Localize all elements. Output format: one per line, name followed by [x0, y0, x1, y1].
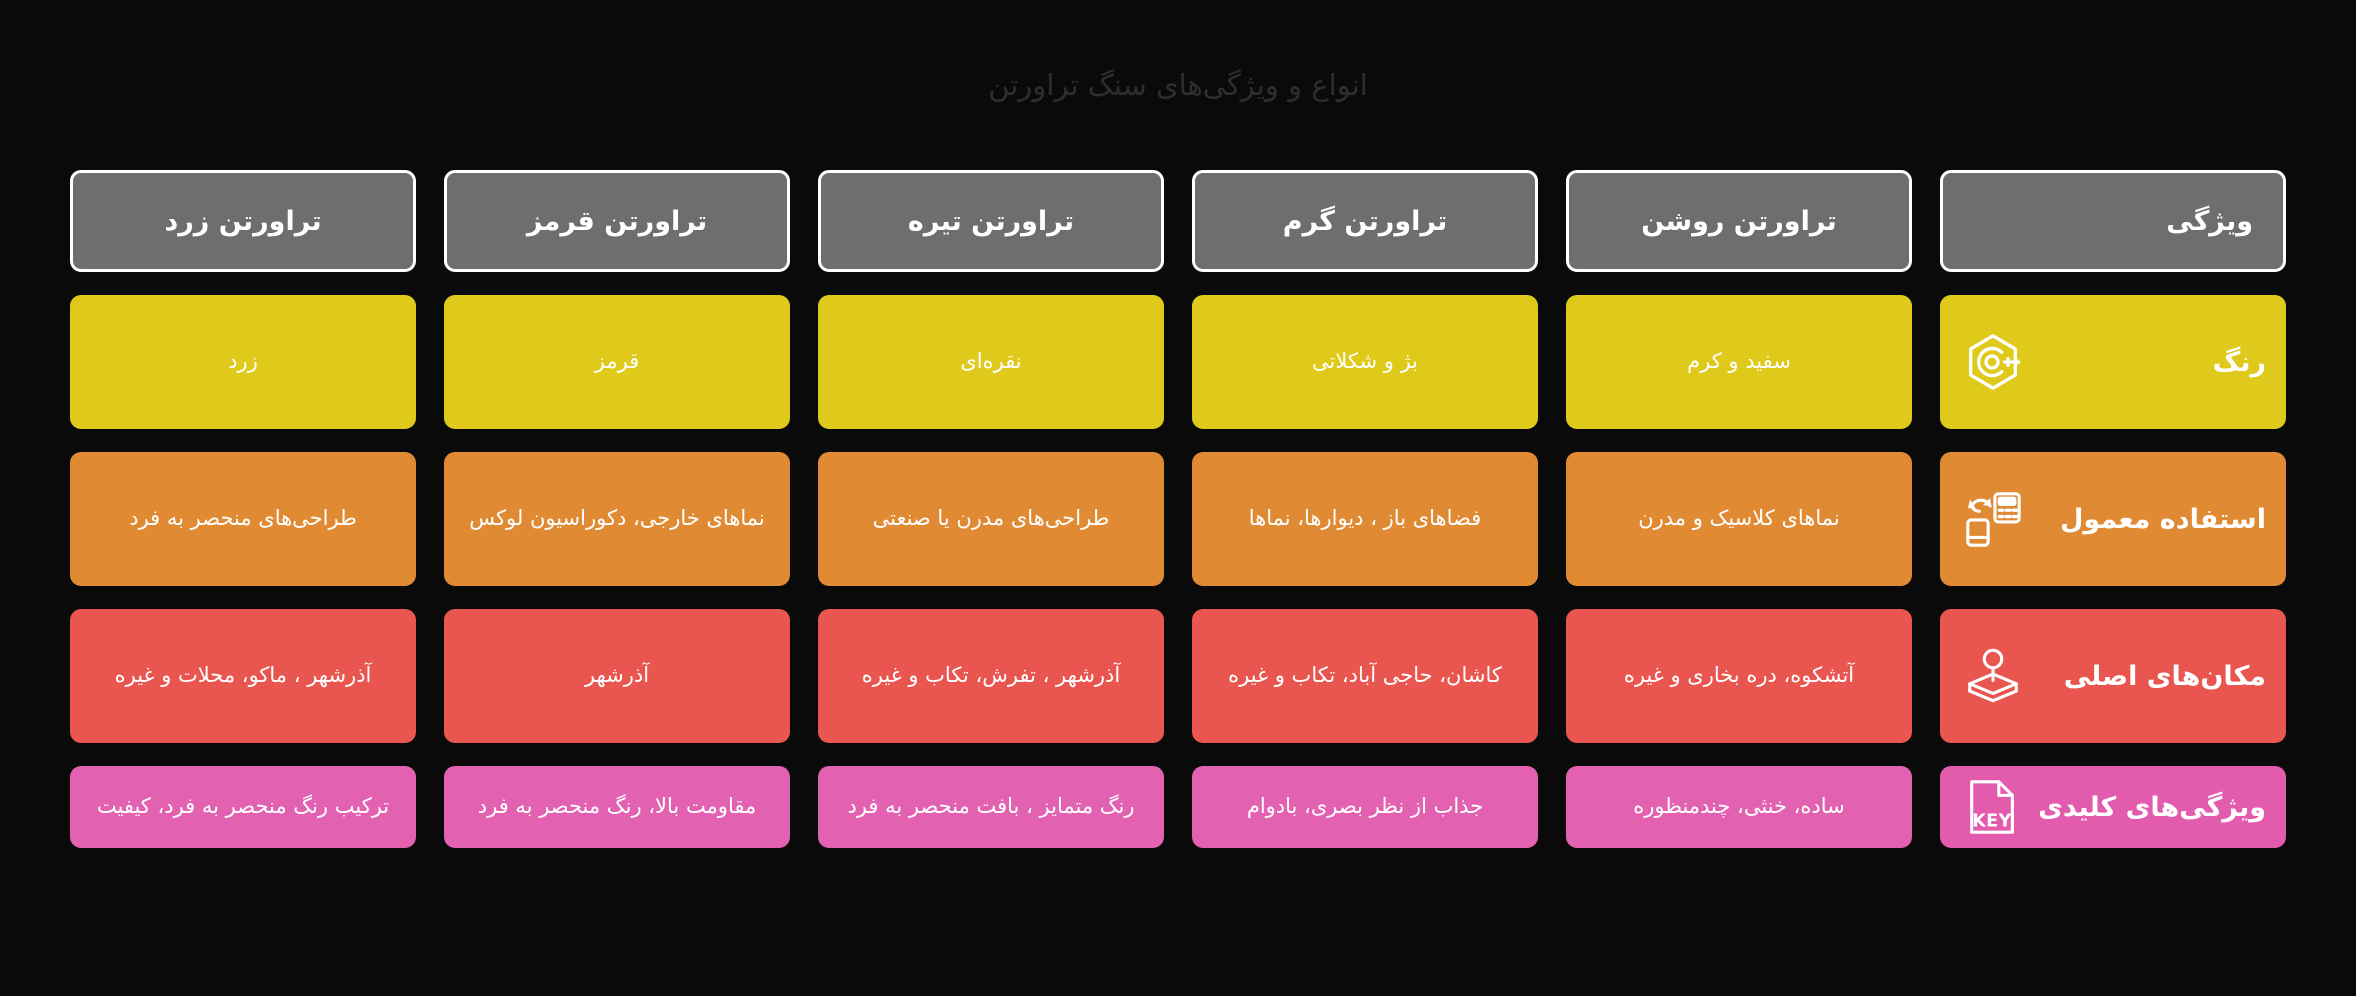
row-label-key-features: ویژگی‌های کلیدی KEY: [1940, 766, 2286, 848]
comparison-table: ویژگی تراورتن روشن تراورتن گرم تراورتن ت…: [0, 170, 2356, 996]
header-label-warm-travertine: تراورتن گرم: [1283, 206, 1448, 237]
location-layers-icon: [1962, 645, 2024, 707]
cell-locations-warm: کاشان، حاجی آباد، تکاب و غیره: [1192, 609, 1538, 743]
header-cell-red-travertine: تراورتن قرمز: [444, 170, 790, 272]
header-cell-warm-travertine: تراورتن گرم: [1192, 170, 1538, 272]
key-document-icon: KEY: [1962, 776, 2024, 838]
cell-locations-light: آتشکوه، دره بخاری و غیره: [1566, 609, 1912, 743]
row-label-main-locations: مکان‌های اصلی: [1940, 609, 2286, 743]
page-title: انواع و ویژگی‌های سنگ تراورتن: [988, 68, 1368, 102]
cell-usage-yellow: طراحی‌های منحصر به فرد: [70, 452, 416, 586]
cell-color-warm: بژ و شکلاتی: [1192, 295, 1538, 429]
cell-keyfeatures-warm: جذاب از نظر بصری، بادوام: [1192, 766, 1538, 848]
cell-usage-light: نماهای کلاسیک و مدرن: [1566, 452, 1912, 586]
row-label-text-key-features: ویژگی‌های کلیدی: [2036, 792, 2266, 823]
row-label-text-color: رنگ: [2036, 347, 2266, 378]
header-label-feature: ویژگی: [2166, 206, 2253, 237]
title-container: انواع و ویژگی‌های سنگ تراورتن: [0, 0, 2356, 170]
cell-keyfeatures-dark: رنگ متمایز ، بافت منحصر به فرد: [818, 766, 1164, 848]
cell-color-light: سفید و کرم: [1566, 295, 1912, 429]
header-label-yellow-travertine: تراورتن زرد: [164, 206, 321, 237]
svg-text:KEY: KEY: [1972, 811, 2011, 831]
cell-usage-dark: طراحی‌های مدرن یا صنعتی: [818, 452, 1164, 586]
cell-color-red: قرمز: [444, 295, 790, 429]
cell-keyfeatures-light: ساده، خنثی، چندمنظوره: [1566, 766, 1912, 848]
header-cell-light-travertine: تراورتن روشن: [1566, 170, 1912, 272]
cell-usage-red: نماهای خارجی، دکوراسیون لوکس: [444, 452, 790, 586]
header-label-light-travertine: تراورتن روشن: [1641, 206, 1837, 237]
header-cell-feature: ویژگی: [1940, 170, 2286, 272]
infographic-board: انواع و ویژگی‌های سنگ تراورتن ویژگی تراو…: [0, 0, 2356, 996]
cell-keyfeatures-yellow: ترکیب رنگ منحصر به فرد، کیفیت: [70, 766, 416, 848]
cell-color-dark: نقره‌ای: [818, 295, 1164, 429]
phone-to-calculator-icon: [1962, 488, 2024, 550]
row-label-typical-usage: استفاده معمول: [1940, 452, 2286, 586]
row-label-color: رنگ: [1940, 295, 2286, 429]
row-label-text-main-locations: مکان‌های اصلی: [2036, 661, 2266, 692]
row-label-text-typical-usage: استفاده معمول: [2036, 504, 2266, 535]
header-label-dark-travertine: تراورتن تیره: [908, 206, 1074, 237]
cell-locations-red: آذرشهر: [444, 609, 790, 743]
header-cell-yellow-travertine: تراورتن زرد: [70, 170, 416, 272]
cell-keyfeatures-red: مقاومت بالا، رنگ منحصر به فرد: [444, 766, 790, 848]
header-label-red-travertine: تراورتن قرمز: [527, 206, 707, 237]
cpp-hexagon-icon: [1962, 331, 2024, 393]
cell-color-yellow: زرد: [70, 295, 416, 429]
header-cell-dark-travertine: تراورتن تیره: [818, 170, 1164, 272]
cell-locations-dark: آذرشهر ، تفرش، تکاب و غیره: [818, 609, 1164, 743]
cell-usage-warm: فضاهای باز ، دیوارها، نماها: [1192, 452, 1538, 586]
cell-locations-yellow: آذرشهر ، ماکو، محلات و غیره: [70, 609, 416, 743]
